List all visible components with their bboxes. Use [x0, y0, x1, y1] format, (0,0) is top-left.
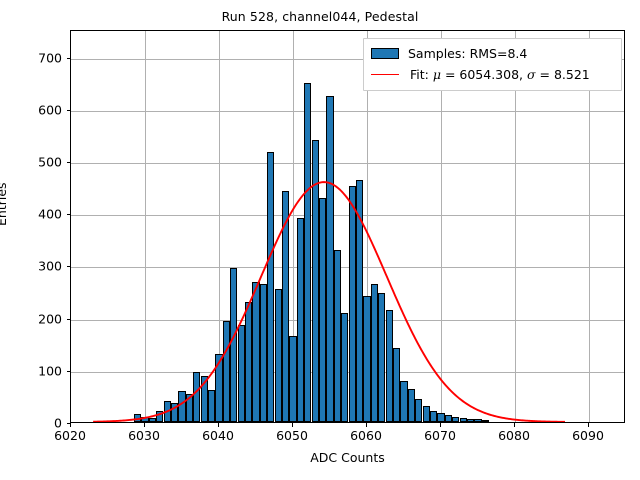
legend-swatch-fit-icon — [371, 74, 399, 75]
histogram-bar — [445, 415, 452, 422]
x-tick-label: 6030 — [128, 428, 160, 443]
y-tick-mark — [67, 110, 71, 111]
y-tick-mark — [67, 423, 71, 424]
histogram-bar — [230, 268, 237, 422]
histogram-bar — [341, 313, 348, 422]
histogram-bar — [312, 140, 319, 422]
histogram-bar — [400, 381, 407, 422]
y-tick-label: 100 — [38, 363, 62, 378]
histogram-bar — [134, 414, 141, 422]
y-tick-mark — [67, 162, 71, 163]
legend-fit-mu-symbol: μ — [433, 67, 441, 82]
x-tick-mark — [218, 423, 219, 427]
figure-canvas: Run 528, channel044, Pedestal 6020603060… — [0, 0, 640, 480]
histogram-bar — [267, 152, 274, 422]
histogram-bar — [430, 411, 437, 422]
histogram-bar — [141, 417, 148, 422]
y-tick-label: 0 — [54, 416, 62, 431]
x-tick-mark — [588, 423, 589, 427]
y-axis-label: Entries — [0, 182, 9, 226]
histogram-bar — [423, 406, 430, 422]
legend-swatch-samples-icon — [371, 48, 399, 59]
histogram-bar — [201, 376, 208, 422]
histogram-bar — [164, 401, 171, 422]
y-tick-label: 700 — [38, 50, 62, 65]
legend-item-fit: Fit: μ = 6054.308, σ = 8.521 — [371, 64, 614, 85]
histogram-bar — [297, 218, 304, 422]
y-tick-label: 400 — [38, 207, 62, 222]
x-tick-label: 6080 — [498, 428, 530, 443]
y-tick-mark — [67, 58, 71, 59]
x-tick-mark — [440, 423, 441, 427]
legend-fit-mu-value: = 6054.308, — [441, 67, 527, 82]
legend-item-samples: Samples: RMS=8.4 — [371, 43, 614, 64]
histogram-bar — [482, 420, 489, 422]
y-tick-mark — [67, 266, 71, 267]
histogram-bar — [349, 186, 356, 422]
y-tick-label: 500 — [38, 155, 62, 170]
gridline-horizontal — [71, 267, 624, 268]
legend-fit-sigma-value: = 8.521 — [536, 67, 590, 82]
histogram-bar — [326, 96, 333, 422]
legend[interactable]: Samples: RMS=8.4 Fit: μ = 6054.308, σ = … — [363, 38, 622, 91]
histogram-bar — [415, 399, 422, 422]
histogram-bar — [245, 302, 252, 422]
x-tick-label: 6090 — [572, 428, 604, 443]
x-tick-label: 6060 — [350, 428, 382, 443]
legend-fit-sigma-symbol: σ — [527, 67, 536, 82]
histogram-bar — [215, 354, 222, 422]
histogram-bar — [452, 417, 459, 422]
y-tick-label: 300 — [38, 259, 62, 274]
histogram-bar — [378, 293, 385, 422]
y-tick-mark — [67, 319, 71, 320]
y-tick-mark — [67, 214, 71, 215]
histogram-bar — [275, 289, 282, 422]
histogram-bar — [437, 413, 444, 422]
histogram-bar — [193, 372, 200, 422]
x-tick-mark — [514, 423, 515, 427]
histogram-bar — [386, 310, 393, 422]
histogram-bar — [467, 419, 474, 422]
gridline-horizontal — [71, 215, 624, 216]
histogram-bar — [356, 180, 363, 422]
x-tick-mark — [144, 423, 145, 427]
histogram-bar — [460, 418, 467, 422]
x-tick-mark — [292, 423, 293, 427]
histogram-bar — [238, 325, 245, 422]
histogram-bar — [371, 284, 378, 422]
histogram-bar — [223, 321, 230, 422]
gridline-horizontal — [71, 111, 624, 112]
legend-label-samples: Samples: RMS=8.4 — [408, 46, 527, 61]
histogram-bar — [363, 296, 370, 422]
histogram-bar — [208, 390, 215, 422]
y-tick-mark — [67, 371, 71, 372]
histogram-bar — [408, 389, 415, 422]
legend-label-fit: Fit: μ = 6054.308, σ = 8.521 — [410, 67, 590, 82]
x-tick-label: 6070 — [424, 428, 456, 443]
histogram-bar — [474, 419, 481, 422]
histogram-bar — [149, 418, 156, 422]
x-axis-label: ADC Counts — [70, 450, 625, 465]
x-tick-label: 6040 — [202, 428, 234, 443]
y-tick-label: 600 — [38, 102, 62, 117]
histogram-bar — [186, 394, 193, 422]
histogram-bar — [260, 284, 267, 422]
x-tick-mark — [70, 423, 71, 427]
y-tick-label: 200 — [38, 311, 62, 326]
histogram-bar — [156, 411, 163, 422]
histogram-bar — [171, 403, 178, 422]
histogram-bar — [304, 83, 311, 422]
histogram-bar — [252, 282, 259, 422]
gridline-horizontal — [71, 163, 624, 164]
histogram-bar — [178, 391, 185, 422]
legend-fit-prefix: Fit: — [410, 67, 433, 82]
chart-title: Run 528, channel044, Pedestal — [0, 9, 640, 24]
x-tick-label: 6050 — [276, 428, 308, 443]
histogram-bar — [319, 198, 326, 422]
histogram-bar — [393, 348, 400, 422]
gridline-vertical — [145, 31, 146, 422]
histogram-bar — [334, 250, 341, 422]
histogram-bar — [282, 191, 289, 422]
histogram-bar — [289, 336, 296, 422]
x-tick-mark — [366, 423, 367, 427]
